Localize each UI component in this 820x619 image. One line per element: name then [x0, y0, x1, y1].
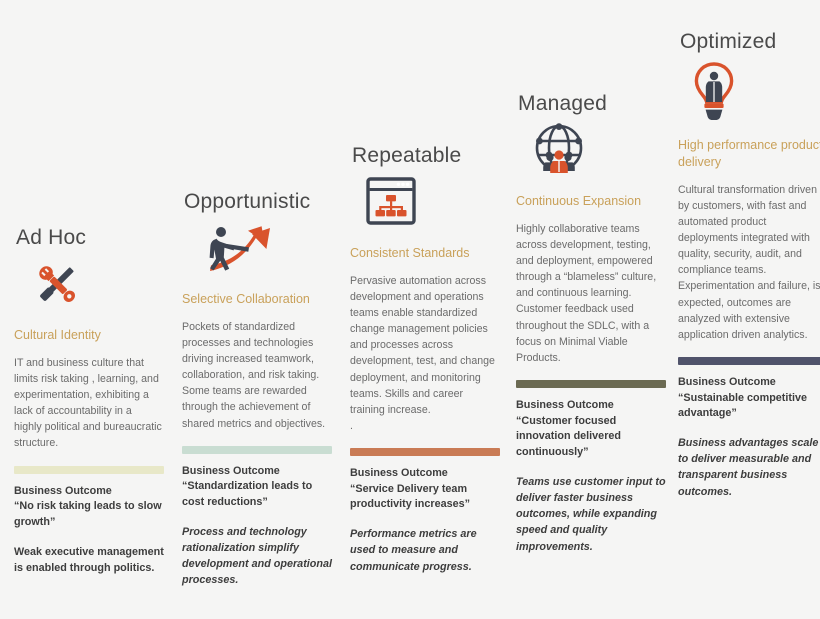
outcome-quote: “No risk taking leads to slow growth” [14, 500, 162, 528]
stage-body: IT and business culture that limits risk… [14, 355, 162, 452]
stage-divider [516, 380, 666, 388]
stage-body: Pockets of standardized processes and te… [182, 319, 330, 432]
stage-divider [182, 446, 332, 454]
stage-outcome: Business Outcome“Sustainable competitive… [678, 375, 820, 422]
stage-body: Cultural transformation driven by custom… [678, 182, 820, 343]
outcome-label: Business Outcome [182, 465, 280, 477]
outcome-quote: “Customer focused innovation delivered c… [516, 415, 621, 459]
outcome-label: Business Outcome [678, 376, 776, 388]
globe-network-team-icon [528, 121, 674, 183]
outcome-label: Business Outcome [14, 485, 112, 497]
stage-outcome: Business Outcome“No risk taking leads to… [14, 484, 164, 531]
stage-divider [678, 357, 820, 365]
stage-outcome-detail: Weak executive management is enabled thr… [14, 544, 164, 576]
stage-divider [350, 448, 500, 456]
stage-title: Opportunistic [184, 190, 340, 213]
stage-title: Repeatable [352, 144, 508, 167]
outcome-label: Business Outcome [350, 467, 448, 479]
person-pulling-growth-arrow-icon [194, 219, 340, 281]
stage-repeatable: Repeatable [340, 144, 508, 575]
stage-outcome: Business Outcome“Service Delivery team p… [350, 466, 500, 513]
stage-title: Ad Hoc [16, 226, 172, 249]
stage-outcome: Business Outcome“Standardization leads t… [182, 464, 332, 511]
stage-subtitle: Continuous Expansion [516, 193, 668, 210]
outcome-quote: “Sustainable competitive advantage” [678, 392, 807, 420]
stage-divider [14, 466, 164, 474]
stage-body: Highly collaborative teams across develo… [516, 221, 664, 366]
stage-title: Optimized [680, 30, 820, 53]
stage-outcome: Business Outcome“Customer focused innova… [516, 398, 666, 461]
maturity-model-diagram: Ad Hoc Cultural Identity IT and business… [0, 0, 820, 619]
lightbulb-person-icon [686, 59, 820, 127]
stage-outcome-detail: Process and technology rationalization s… [182, 524, 332, 589]
stage-ad-hoc: Ad Hoc Cultural Identity IT and business… [4, 226, 172, 576]
stage-subtitle: Cultural Identity [14, 327, 166, 344]
stage-optimized: Optimized High performance product deliv… [668, 30, 820, 500]
stage-body: Pervasive automation across development … [350, 273, 498, 434]
outcome-quote: “Service Delivery team productivity incr… [350, 483, 470, 511]
browser-window-org-chart-icon [362, 173, 508, 235]
crossed-wrench-screwdriver-icon [26, 255, 172, 317]
stage-outcome-detail: Performance metrics are used to measure … [350, 526, 500, 575]
stage-title: Managed [518, 92, 674, 115]
stage-opportunistic: Opportunistic Selective Collaboration Po… [172, 190, 340, 589]
stage-subtitle: Selective Collaboration [182, 291, 334, 308]
stage-outcome-detail: Business advantages scale to deliver mea… [678, 435, 820, 500]
stage-outcome-detail: Teams use customer input to deliver fast… [516, 474, 666, 555]
outcome-label: Business Outcome [516, 399, 614, 411]
stage-subtitle: Consistent Standards [350, 245, 502, 262]
stage-subtitle: High performance product delivery [678, 137, 820, 171]
outcome-quote: “Standardization leads to cost reduction… [182, 480, 312, 508]
stage-managed: Managed [506, 92, 674, 555]
